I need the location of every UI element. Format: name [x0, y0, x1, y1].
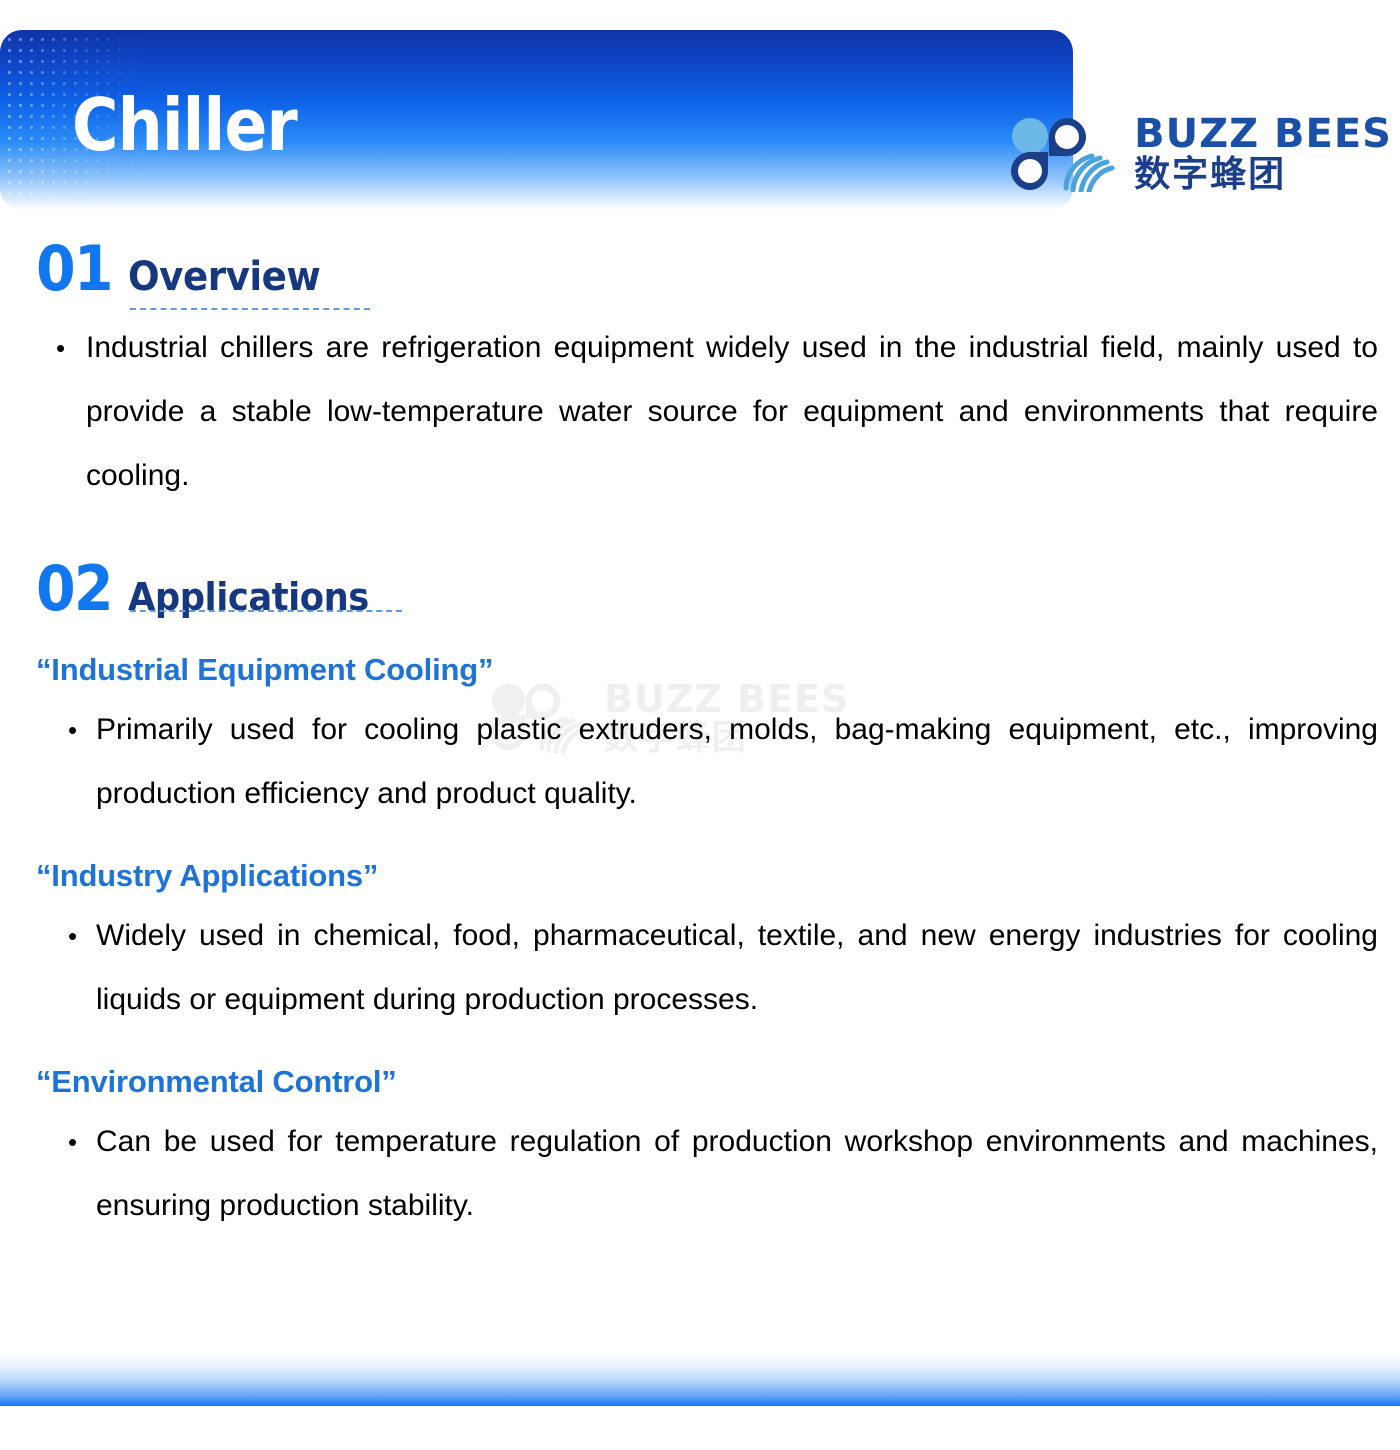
- buzz-bees-logo-icon: [1008, 116, 1120, 192]
- section-heading-applications: 02 Applications: [0, 558, 1400, 620]
- section-number-02: 02: [36, 558, 112, 620]
- subsection-heading-industrial-equipment-cooling: “Industrial Equipment Cooling”: [0, 650, 1400, 690]
- section-label-wrap-overview: Overview: [128, 256, 335, 298]
- section-dashed-rule: [130, 308, 370, 310]
- section-dashed-rule: [130, 610, 402, 612]
- overview-body: Industrial chillers are refrigeration eq…: [0, 316, 1400, 508]
- subsection-body-industrial-equipment-cooling: Primarily used for cooling plastic extru…: [0, 698, 1400, 826]
- subsection-heading-industry-applications: “Industry Applications”: [0, 856, 1400, 896]
- subsection-body-industry-applications: Widely used in chemical, food, pharmaceu…: [0, 904, 1400, 1032]
- list-item: Primarily used for cooling plastic extru…: [64, 698, 1378, 826]
- section-number-01: 01: [36, 238, 112, 300]
- brand-name-en: BUZZ BEES: [1134, 114, 1392, 154]
- section-label-wrap-applications: Applications: [128, 576, 387, 618]
- list-item: Widely used in chemical, food, pharmaceu…: [64, 904, 1378, 1032]
- brand-name-cn: 数字蜂团: [1134, 156, 1392, 194]
- list-item: Can be used for temperature regulation o…: [64, 1110, 1378, 1238]
- subsection-bullet-list: Primarily used for cooling plastic extru…: [64, 698, 1378, 826]
- footer-gradient-bar: [0, 1352, 1400, 1406]
- page-title: Chiller: [72, 86, 297, 164]
- subsection-heading-environmental-control: “Environmental Control”: [0, 1062, 1400, 1102]
- subsection-bullet-list: Widely used in chemical, food, pharmaceu…: [64, 904, 1378, 1032]
- subsection-body-environmental-control: Can be used for temperature regulation o…: [0, 1110, 1400, 1238]
- section-heading-overview: 01 Overview: [0, 238, 1400, 300]
- header-banner: Chiller: [0, 30, 1073, 210]
- content-area: 01 Overview Industrial chillers are refr…: [0, 210, 1400, 1238]
- section-label-overview: Overview: [128, 256, 320, 298]
- subsection-bullet-list: Can be used for temperature regulation o…: [64, 1110, 1378, 1238]
- overview-bullet-list: Industrial chillers are refrigeration eq…: [52, 316, 1378, 508]
- list-item: Industrial chillers are refrigeration eq…: [52, 316, 1378, 508]
- brand-logo: BUZZ BEES 数字蜂团: [1008, 114, 1392, 194]
- brand-text-block: BUZZ BEES 数字蜂团: [1134, 114, 1392, 194]
